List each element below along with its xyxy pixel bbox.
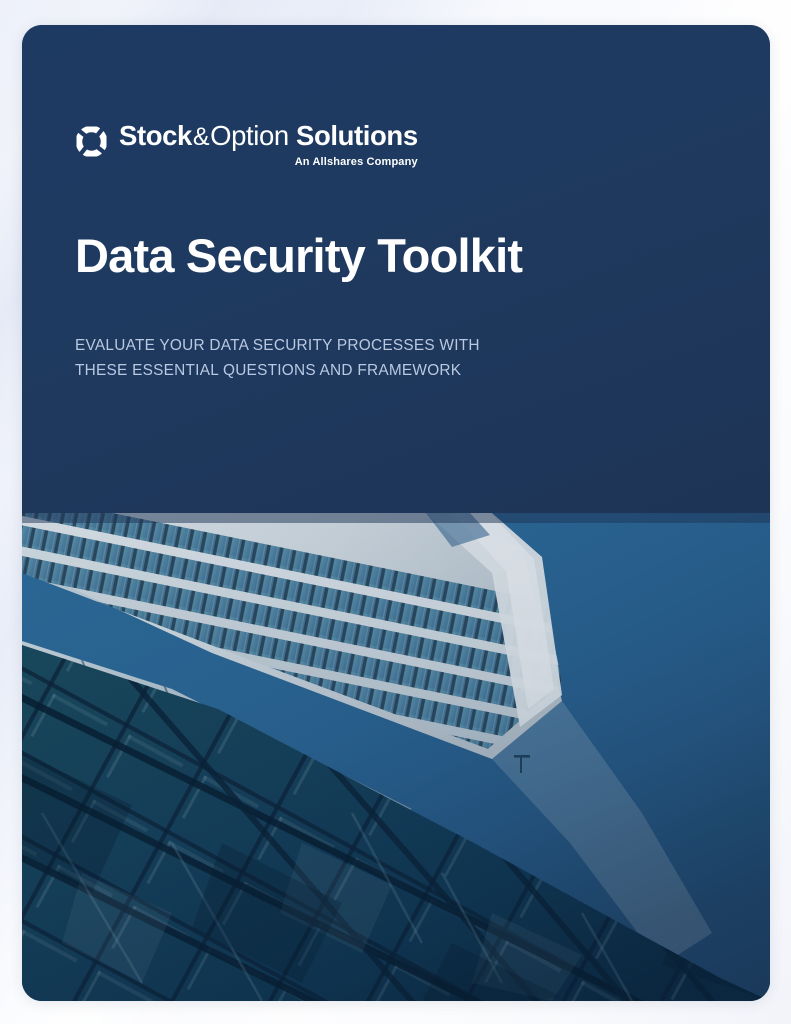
wordmark-option: Option: [210, 120, 289, 151]
document-cover-card: Stock&Option Solutions An Allshares Comp…: [22, 25, 770, 1001]
wordmark-solutions: Solutions: [296, 120, 418, 151]
brand-tagline: An Allshares Company: [295, 156, 418, 168]
wordmark-stock: Stock: [119, 120, 192, 151]
cover-photo: [22, 513, 770, 1001]
cover-header-block: Stock&Option Solutions An Allshares Comp…: [22, 25, 770, 514]
wordmark-ampersand: &: [192, 123, 210, 151]
page-subtitle-line-2: THESE ESSENTIAL QUESTIONS AND FRAMEWORK: [75, 358, 545, 384]
brand-wordmark: Stock&Option Solutions: [119, 121, 418, 152]
page-subtitle-line-1: EVALUATE YOUR DATA SECURITY PROCESSES WI…: [75, 333, 545, 359]
segmented-ring-icon: [75, 125, 108, 158]
page-title: Data Security Toolkit: [75, 231, 770, 281]
brand-text-group: Stock&Option Solutions An Allshares Comp…: [119, 121, 418, 168]
page-subtitle: EVALUATE YOUR DATA SECURITY PROCESSES WI…: [75, 333, 545, 384]
brand-logo-lockup[interactable]: Stock&Option Solutions An Allshares Comp…: [75, 121, 770, 177]
